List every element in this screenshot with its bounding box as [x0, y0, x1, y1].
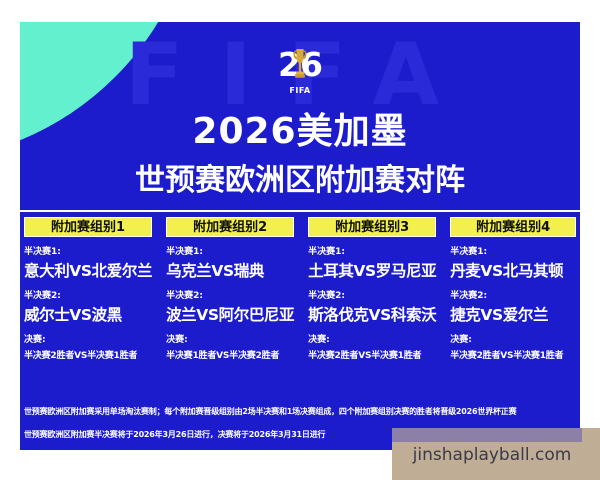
- poster-root: FIFA 26 FIFA 2026美加墨 世预赛欧洲区附加赛对阵 附加赛组别1 …: [0, 0, 600, 480]
- semifinal2-label-1: 半决赛2:: [24, 288, 152, 301]
- semifinal2-match-4: 捷克VS爱尔兰: [450, 303, 576, 325]
- final-match-1: 半决赛2胜者VS半决赛1胜者: [24, 348, 152, 361]
- semifinal1-label-1: 半决赛1:: [24, 244, 152, 257]
- semifinal2-match-1: 威尔士VS波黑: [24, 303, 152, 325]
- semifinal2-match-2: 波兰VS阿尔巴尼亚: [166, 303, 294, 325]
- semifinal2-match-3: 斯洛伐克VS科索沃: [308, 303, 436, 325]
- watermark-site-url: jinshaplayball.com: [392, 445, 592, 465]
- group-header-2: 附加赛组别2: [166, 217, 294, 237]
- semifinal2-label-3: 半决赛2:: [308, 288, 436, 301]
- poster-title-main: 2026美加墨: [20, 114, 580, 150]
- final-label-1: 决赛:: [24, 332, 152, 345]
- final-match-3: 半决赛2胜者VS半决赛1胜者: [308, 348, 436, 361]
- semifinal2-label-4: 半决赛2:: [450, 288, 576, 301]
- watermark-band-decoration: [392, 428, 582, 442]
- semifinal2-label-2: 半决赛2:: [166, 288, 294, 301]
- final-match-4: 半决赛2胜者VS半决赛1胜者: [450, 348, 576, 361]
- final-match-2: 半决赛1胜者VS半决赛2胜者: [166, 348, 294, 361]
- semifinal1-match-1: 意大利VS北爱尔兰: [24, 259, 152, 281]
- emblem-fifa-text: FIFA: [276, 86, 324, 95]
- group-header-1: 附加赛组别1: [24, 217, 152, 237]
- playoff-group-column-2: 附加赛组别2 半决赛1: 乌克兰VS瑞典 半决赛2: 波兰VS阿尔巴尼亚 决赛:…: [162, 212, 298, 400]
- final-label-3: 决赛:: [308, 332, 436, 345]
- playoff-groups-grid: 附加赛组别1 半决赛1: 意大利VS北爱尔兰 半决赛2: 威尔士VS波黑 决赛:…: [20, 212, 580, 400]
- footer-note-line-1: 世预赛欧洲区附加赛采用单场淘汰赛制；每个附加赛晋级组别由2场半决赛和1场决赛组成…: [20, 400, 580, 417]
- semifinal1-label-3: 半决赛1:: [308, 244, 436, 257]
- group-header-3: 附加赛组别3: [308, 217, 436, 237]
- semifinal1-match-2: 乌克兰VS瑞典: [166, 259, 294, 281]
- poster-title-subtitle: 世预赛欧洲区附加赛对阵: [20, 166, 580, 196]
- semifinal1-label-4: 半决赛1:: [450, 244, 576, 257]
- final-label-2: 决赛:: [166, 332, 294, 345]
- fifa-26-emblem: 26 FIFA: [276, 44, 324, 100]
- semifinal1-match-4: 丹麦VS北马其顿: [450, 259, 576, 281]
- semifinal1-match-3: 土耳其VS罗马尼亚: [308, 259, 436, 281]
- hero-banner: FIFA 26 FIFA 2026美加墨 世预赛欧洲区附加赛对阵: [20, 22, 580, 210]
- playoff-group-column-1: 附加赛组别1 半决赛1: 意大利VS北爱尔兰 半决赛2: 威尔士VS波黑 决赛:…: [20, 212, 156, 400]
- playoff-group-column-3: 附加赛组别3 半决赛1: 土耳其VS罗马尼亚 半决赛2: 斯洛伐克VS科索沃 决…: [304, 212, 440, 400]
- group-header-4: 附加赛组别4: [450, 217, 576, 237]
- final-label-4: 决赛:: [450, 332, 576, 345]
- playoff-group-column-4: 附加赛组别4 半决赛1: 丹麦VS北马其顿 半决赛2: 捷克VS爱尔兰 决赛: …: [446, 212, 580, 400]
- semifinal1-label-2: 半决赛1:: [166, 244, 294, 257]
- world-cup-trophy-icon: [292, 47, 309, 83]
